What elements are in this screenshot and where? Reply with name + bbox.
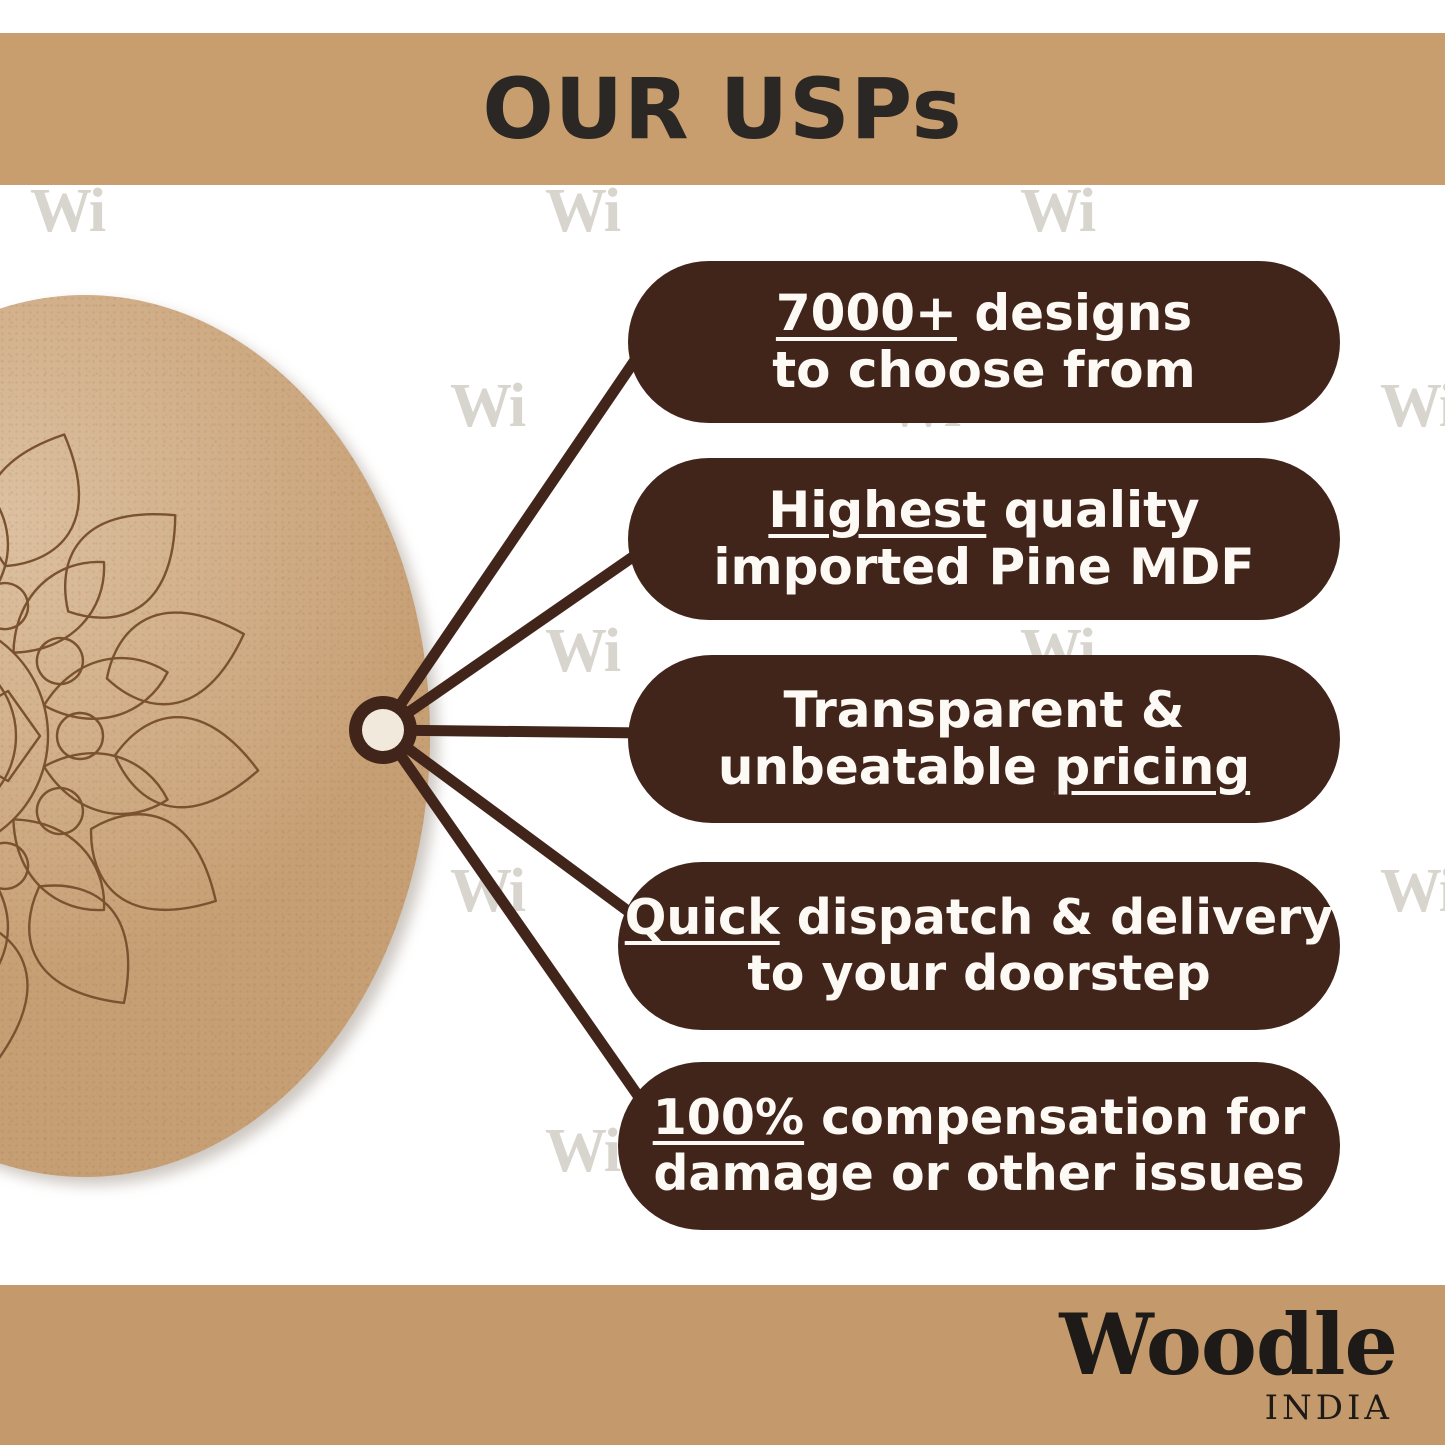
usp-line-2: unbeatable pricing xyxy=(718,739,1250,796)
usp-line-1: Transparent & xyxy=(784,682,1185,739)
brand-logo-word: Woodle xyxy=(1059,1305,1397,1386)
usp-pill-dispatch[interactable]: Quick dispatch & delivery to your doorst… xyxy=(618,862,1340,1030)
usp-line-1: 100% compensation for xyxy=(653,1090,1306,1146)
usp-line-2: to choose from xyxy=(772,342,1196,399)
usp-line-1: Highest quality xyxy=(768,482,1199,539)
usp-pill-designs[interactable]: 7000+ designs to choose from xyxy=(628,261,1340,423)
usp-pill-pricing[interactable]: Transparent & unbeatable pricing xyxy=(628,655,1340,823)
usp-pill-compensation[interactable]: 100% compensation for damage or other is… xyxy=(618,1062,1340,1230)
usp-line-1: Quick dispatch & delivery xyxy=(625,890,1334,946)
infographic-canvas: WiWiWiWiWiWiWiWiWiWiWiWiWiWiWiWiWiWi xyxy=(0,0,1445,1445)
hub-node-center xyxy=(362,709,404,751)
usp-line-2: imported Pine MDF xyxy=(713,539,1254,596)
usp-line-2: to your doorstep xyxy=(747,946,1210,1002)
usp-line-1: 7000+ designs xyxy=(776,285,1192,342)
connector-to-usp-3 xyxy=(383,730,645,733)
brand-logo: Woodle INDIA xyxy=(1059,1305,1397,1428)
usp-pill-quality[interactable]: Highest quality imported Pine MDF xyxy=(628,458,1340,620)
connector-to-usp-5 xyxy=(383,730,648,1110)
connector-to-usp-2 xyxy=(383,545,650,730)
page-title: OUR USPs xyxy=(0,33,1445,185)
connector-to-usp-4 xyxy=(383,730,640,920)
usp-line-2: damage or other issues xyxy=(653,1146,1304,1202)
